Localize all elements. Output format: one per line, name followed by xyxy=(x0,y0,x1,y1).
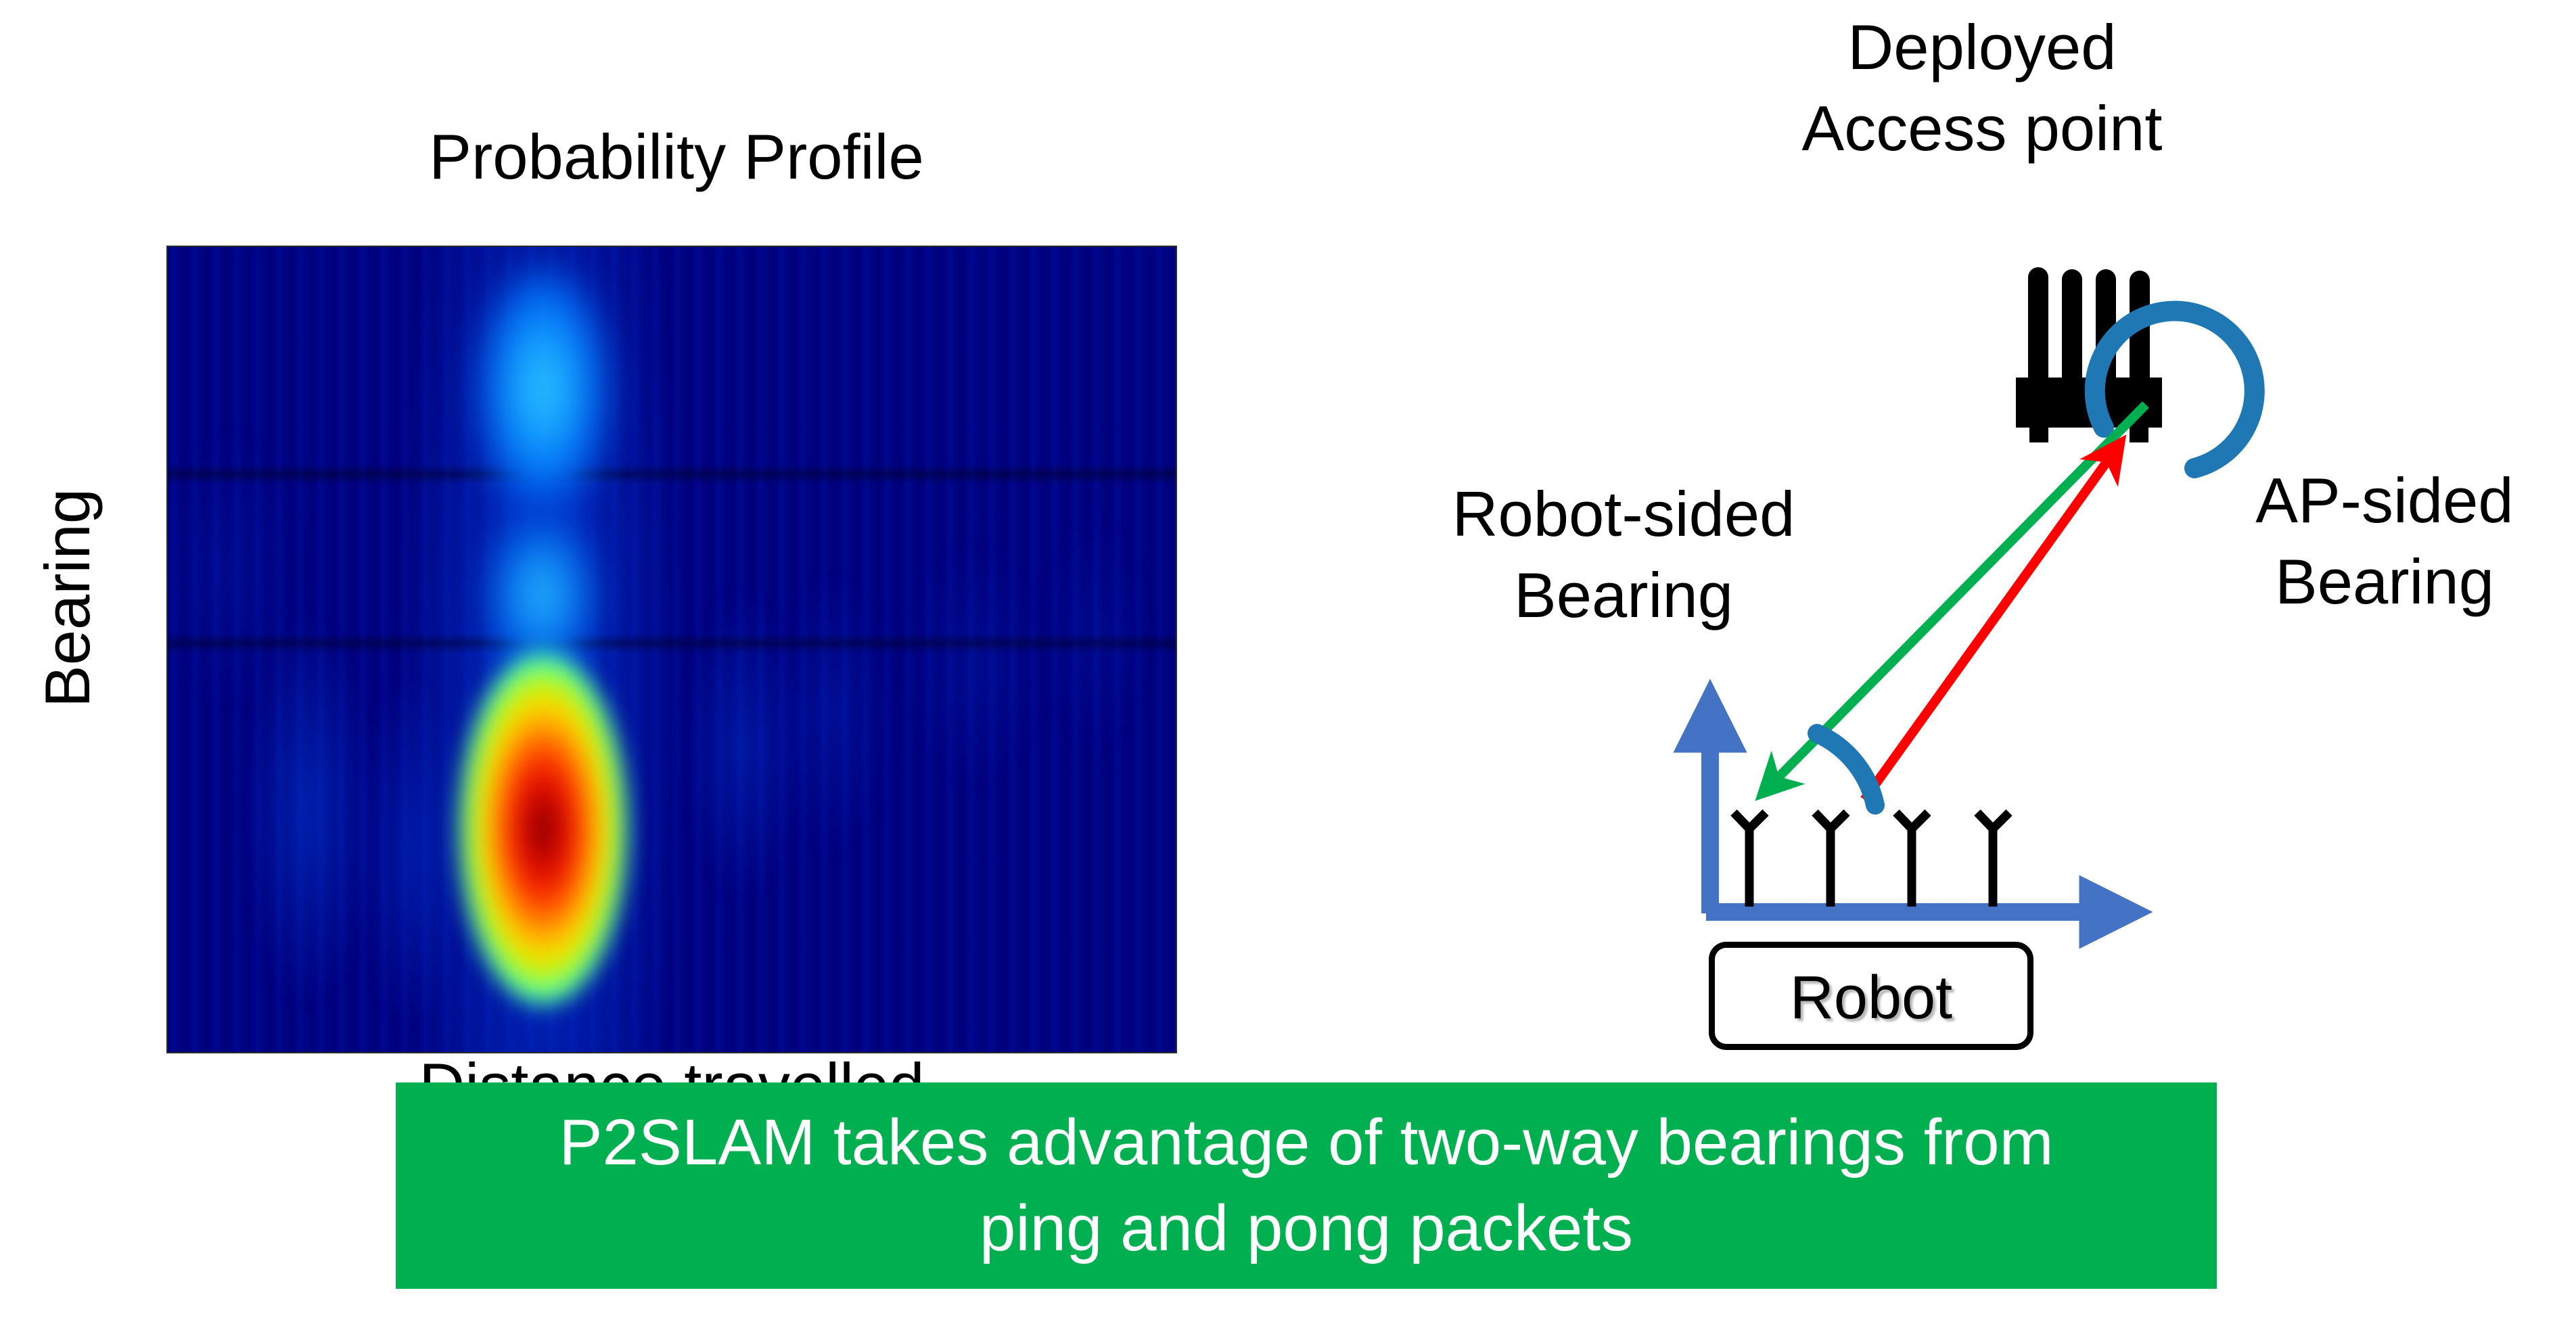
caption-banner: P2SLAM takes advantage of two-way bearin… xyxy=(396,1082,2217,1289)
robot-label: Robot xyxy=(1709,947,2033,1049)
heatmap-primary-peak xyxy=(459,653,628,1005)
caption-text: P2SLAM takes advantage of two-way bearin… xyxy=(559,1100,2053,1271)
bearing-diagram-panel: Deployed Access point Robot-sided Bearin… xyxy=(1387,0,2576,1116)
probability-profile-panel: Probability Profile Bearing Distance tra… xyxy=(0,0,1285,1150)
probability-heatmap xyxy=(168,247,1176,1052)
ping-arrow-green xyxy=(1772,405,2146,783)
x-axis-label-clip: Distance travelled xyxy=(168,1054,1176,1087)
heatmap-tertiary-lobe xyxy=(479,267,607,511)
heatmap-secondary-lobe xyxy=(491,518,593,673)
y-axis-label: Bearing xyxy=(31,422,104,774)
page-title: Probability Profile xyxy=(169,125,1184,189)
robot-sided-bearing-arc xyxy=(1817,733,1875,805)
pong-arrow-red xyxy=(1864,455,2112,800)
robot-antenna-array-icon xyxy=(1734,813,2009,907)
heatmap-horizontal-bands xyxy=(168,247,1176,1052)
x-axis-label: Distance travelled xyxy=(168,1054,1176,1087)
